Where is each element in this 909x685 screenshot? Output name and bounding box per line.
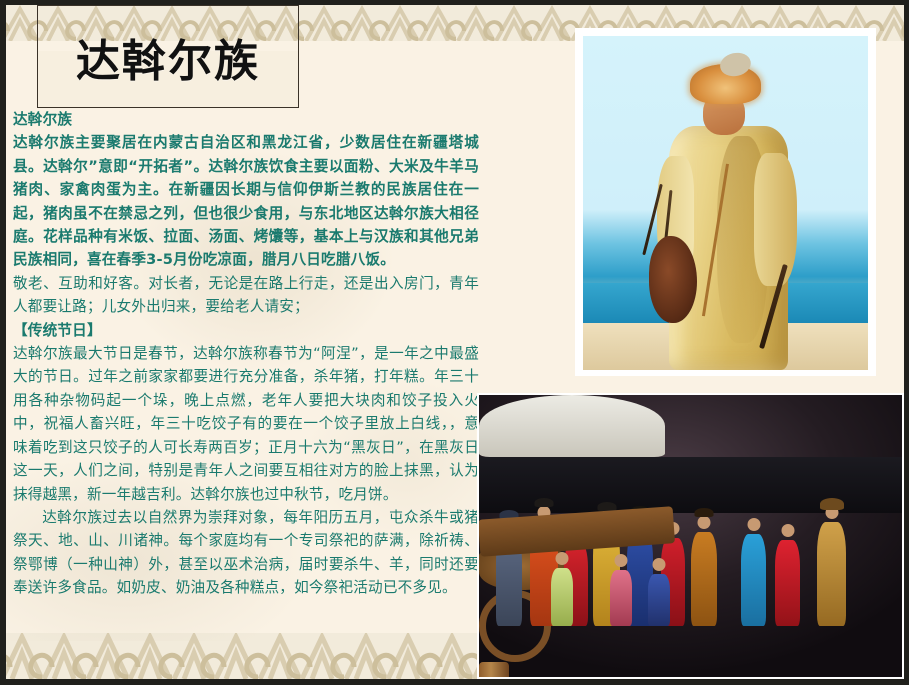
person-head [781,524,794,537]
person-figure [691,532,717,626]
page-title: 达斡尔族 [76,25,260,89]
daur-hunter-photo [575,28,876,376]
child-figure [648,574,670,626]
paragraph-customs: 敬老、互助和好客。对长者，无论是在路上行走，还是出入房门，青年人都要让路；儿女外… [13,272,479,319]
paragraph-overview: 达斡尔族主要聚居在内蒙古自治区和黑龙江省，少数居住在新疆塔城县。达斡尔”意即“开… [13,131,479,271]
person-head [697,516,710,529]
section-heading: 达斡尔族 [13,108,479,131]
person-head [747,518,760,531]
frame-right-edge [904,0,909,685]
article-body: 达斡尔族 达斡尔族主要聚居在内蒙古自治区和黑龙江省，少数居住在新疆塔城县。达斡尔… [13,108,479,600]
group-photo-content [479,395,902,677]
child-head [653,558,666,571]
daur-group-portrait-photo [477,393,904,679]
game-birds [649,236,697,323]
birch-bark-bucket [479,662,509,677]
paragraph-beliefs: 达斡尔族过去以自然界为崇拜对象，每年阳历五月，屯众杀牛或猪祭天、地、山、川诸神。… [13,506,479,600]
person-hat [534,498,553,507]
frame-left-edge [0,0,6,685]
child-figure [551,568,573,626]
person-figure [741,534,766,626]
child-figure [610,570,632,626]
festivals-heading: 【传统节日】 [13,319,479,342]
hunter-photo-content [583,36,868,370]
person-hat [694,508,713,517]
frame-bottom-edge [0,679,909,685]
person-fur-hat [820,498,844,510]
slide-canvas: 达斡尔族 达斡尔族 达斡尔族主要聚居在内蒙古自治区和黑龙江省，少数居住在新疆塔城… [0,0,909,685]
paragraph-festivals: 达斡尔族最大节日是春节，达斡尔族称春节为“阿涅”，是一年之中最盛大的节日。过年之… [13,342,479,506]
person-figure [817,522,846,626]
page-title-box: 达斡尔族 [37,5,299,108]
right-arm [754,153,797,287]
frame-top-edge [0,0,909,5]
child-head [615,554,628,567]
child-head [555,552,568,565]
white-yurt [479,395,665,457]
person-figure [775,540,800,626]
